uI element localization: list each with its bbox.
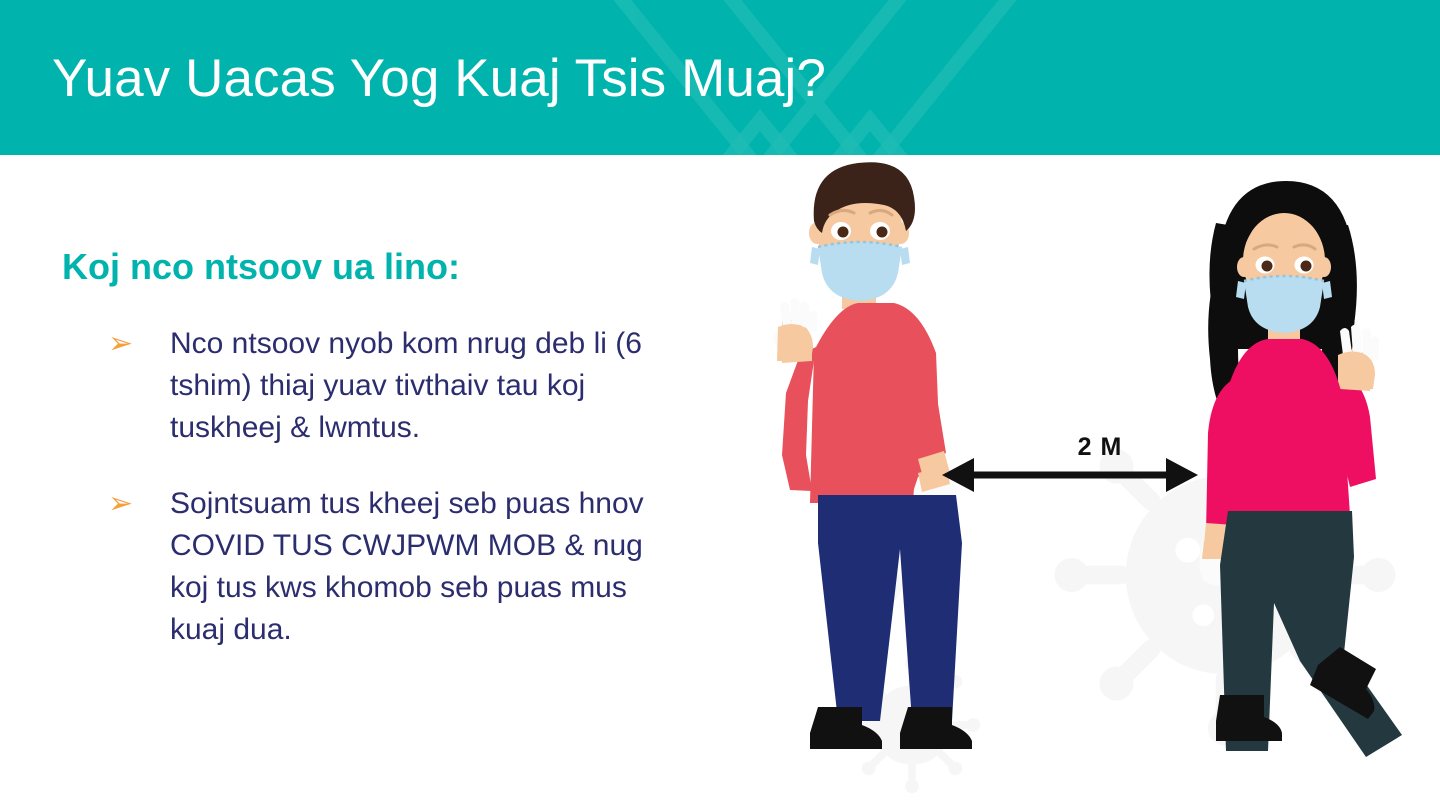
text-column: Koj nco ntsoov ua lino: ➢ Nco ntsoov nyo… bbox=[0, 155, 720, 810]
list-item-text: Nco ntsoov nyob kom nrug deb li (6 tshim… bbox=[170, 323, 678, 449]
list-item-text: Sojntsuam tus kheej seb puas hnov COVID … bbox=[170, 483, 678, 651]
bullet-list: ➢ Nco ntsoov nyob kom nrug deb li (6 tsh… bbox=[108, 323, 708, 685]
social-distancing-illustration: 2 M bbox=[720, 155, 1440, 810]
woman-with-mask bbox=[1199, 181, 1402, 757]
lead-heading: Koj nco ntsoov ua lino: bbox=[62, 245, 460, 289]
distance-arrow bbox=[942, 458, 1198, 492]
arrow-bullet-icon: ➢ bbox=[108, 483, 170, 525]
header-bar: Yuav Uacas Yog Kuaj Tsis Muaj? bbox=[0, 0, 1440, 155]
page-title: Yuav Uacas Yog Kuaj Tsis Muaj? bbox=[52, 48, 826, 110]
list-item: ➢ Nco ntsoov nyob kom nrug deb li (6 tsh… bbox=[108, 323, 708, 449]
slide: Yuav Uacas Yog Kuaj Tsis Muaj? Koj nco n… bbox=[0, 0, 1440, 810]
man-with-mask bbox=[773, 162, 972, 749]
distance-label: 2 M bbox=[1040, 433, 1160, 462]
arrow-bullet-icon: ➢ bbox=[108, 323, 170, 365]
list-item: ➢ Sojntsuam tus kheej seb puas hnov COVI… bbox=[108, 483, 708, 651]
illustration-svg bbox=[720, 155, 1440, 810]
